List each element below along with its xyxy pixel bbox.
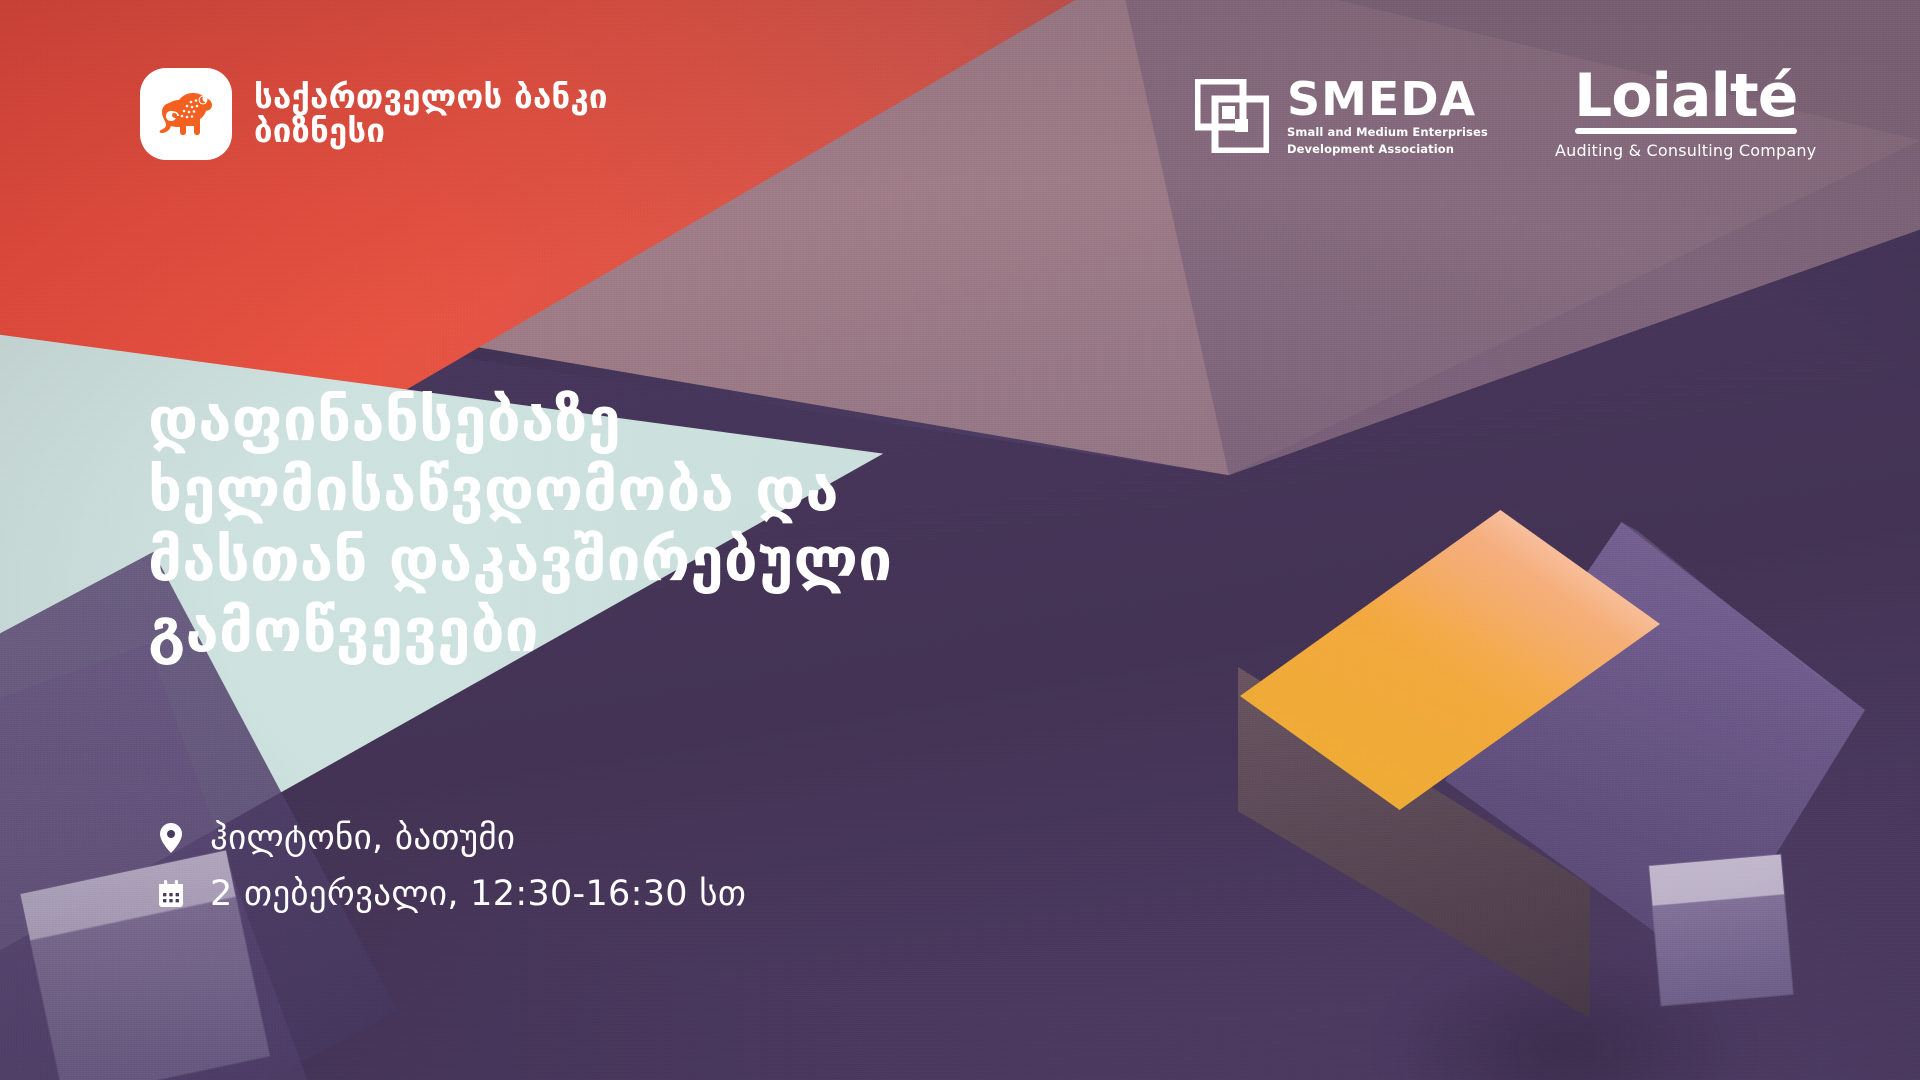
loialte-subline: Auditing & Consulting Company: [1555, 141, 1816, 160]
smeda-subline-1: Small and Medium Enterprises: [1287, 125, 1488, 139]
event-location-row: ჰილტონი, ბათუმი: [158, 818, 746, 858]
smeda-wordmark: SMEDA: [1287, 76, 1488, 122]
lion-mark-icon: [140, 68, 232, 160]
headline-line-2: ხელმისაწვდომობა და: [148, 455, 1228, 525]
event-datetime-row: 2 თებერვალი, 12:30-16:30 სთ: [158, 874, 746, 914]
poster-header: საქართველოს ბანკი ბიზნესი SMEDA Small an…: [0, 0, 1920, 200]
calendar-icon: [158, 880, 184, 908]
smeda-square-icon: [1195, 79, 1269, 153]
event-datetime-text: 2 თებერვალი, 12:30-16:30 სთ: [210, 874, 746, 914]
loialte-wordmark-row: Loialté: [1574, 68, 1797, 124]
bank-logo-text: საქართველოს ბანკი ბიზნესი: [254, 80, 608, 147]
event-location-text: ჰილტონი, ბათუმი: [210, 818, 515, 858]
loialte-underline: [1575, 128, 1797, 134]
map-pin-icon: [158, 823, 184, 853]
headline-line-3: მასთან დაკავშირებული: [148, 525, 1228, 595]
smeda-subline-2: Development Association: [1287, 142, 1488, 156]
event-details: ჰილტონი, ბათუმი: [158, 818, 746, 914]
bank-logo-line1: საქართველოს ბანკი: [254, 80, 608, 114]
headline-line-1: დაფინანსებაზე: [148, 385, 1228, 455]
bank-logo-line2: ბიზნესი: [254, 114, 608, 148]
bank-of-georgia-logo: საქართველოს ბანკი ბიზნესი: [140, 68, 608, 160]
smeda-text: SMEDA Small and Medium Enterprises Devel…: [1287, 76, 1488, 157]
loialte-logo: Loialté Auditing & Consulting Company: [1555, 68, 1816, 160]
smeda-logo: SMEDA Small and Medium Enterprises Devel…: [1195, 76, 1488, 157]
headline-line-4: გამოწვევები: [148, 596, 1228, 666]
poster-headline: დაფინანსებაზე ხელმისაწვდომობა და მასთან …: [148, 385, 1228, 666]
event-poster: საქართველოს ბანკი ბიზნესი SMEDA Small an…: [0, 0, 1920, 1080]
loialte-wordmark: Loialté: [1574, 68, 1797, 124]
